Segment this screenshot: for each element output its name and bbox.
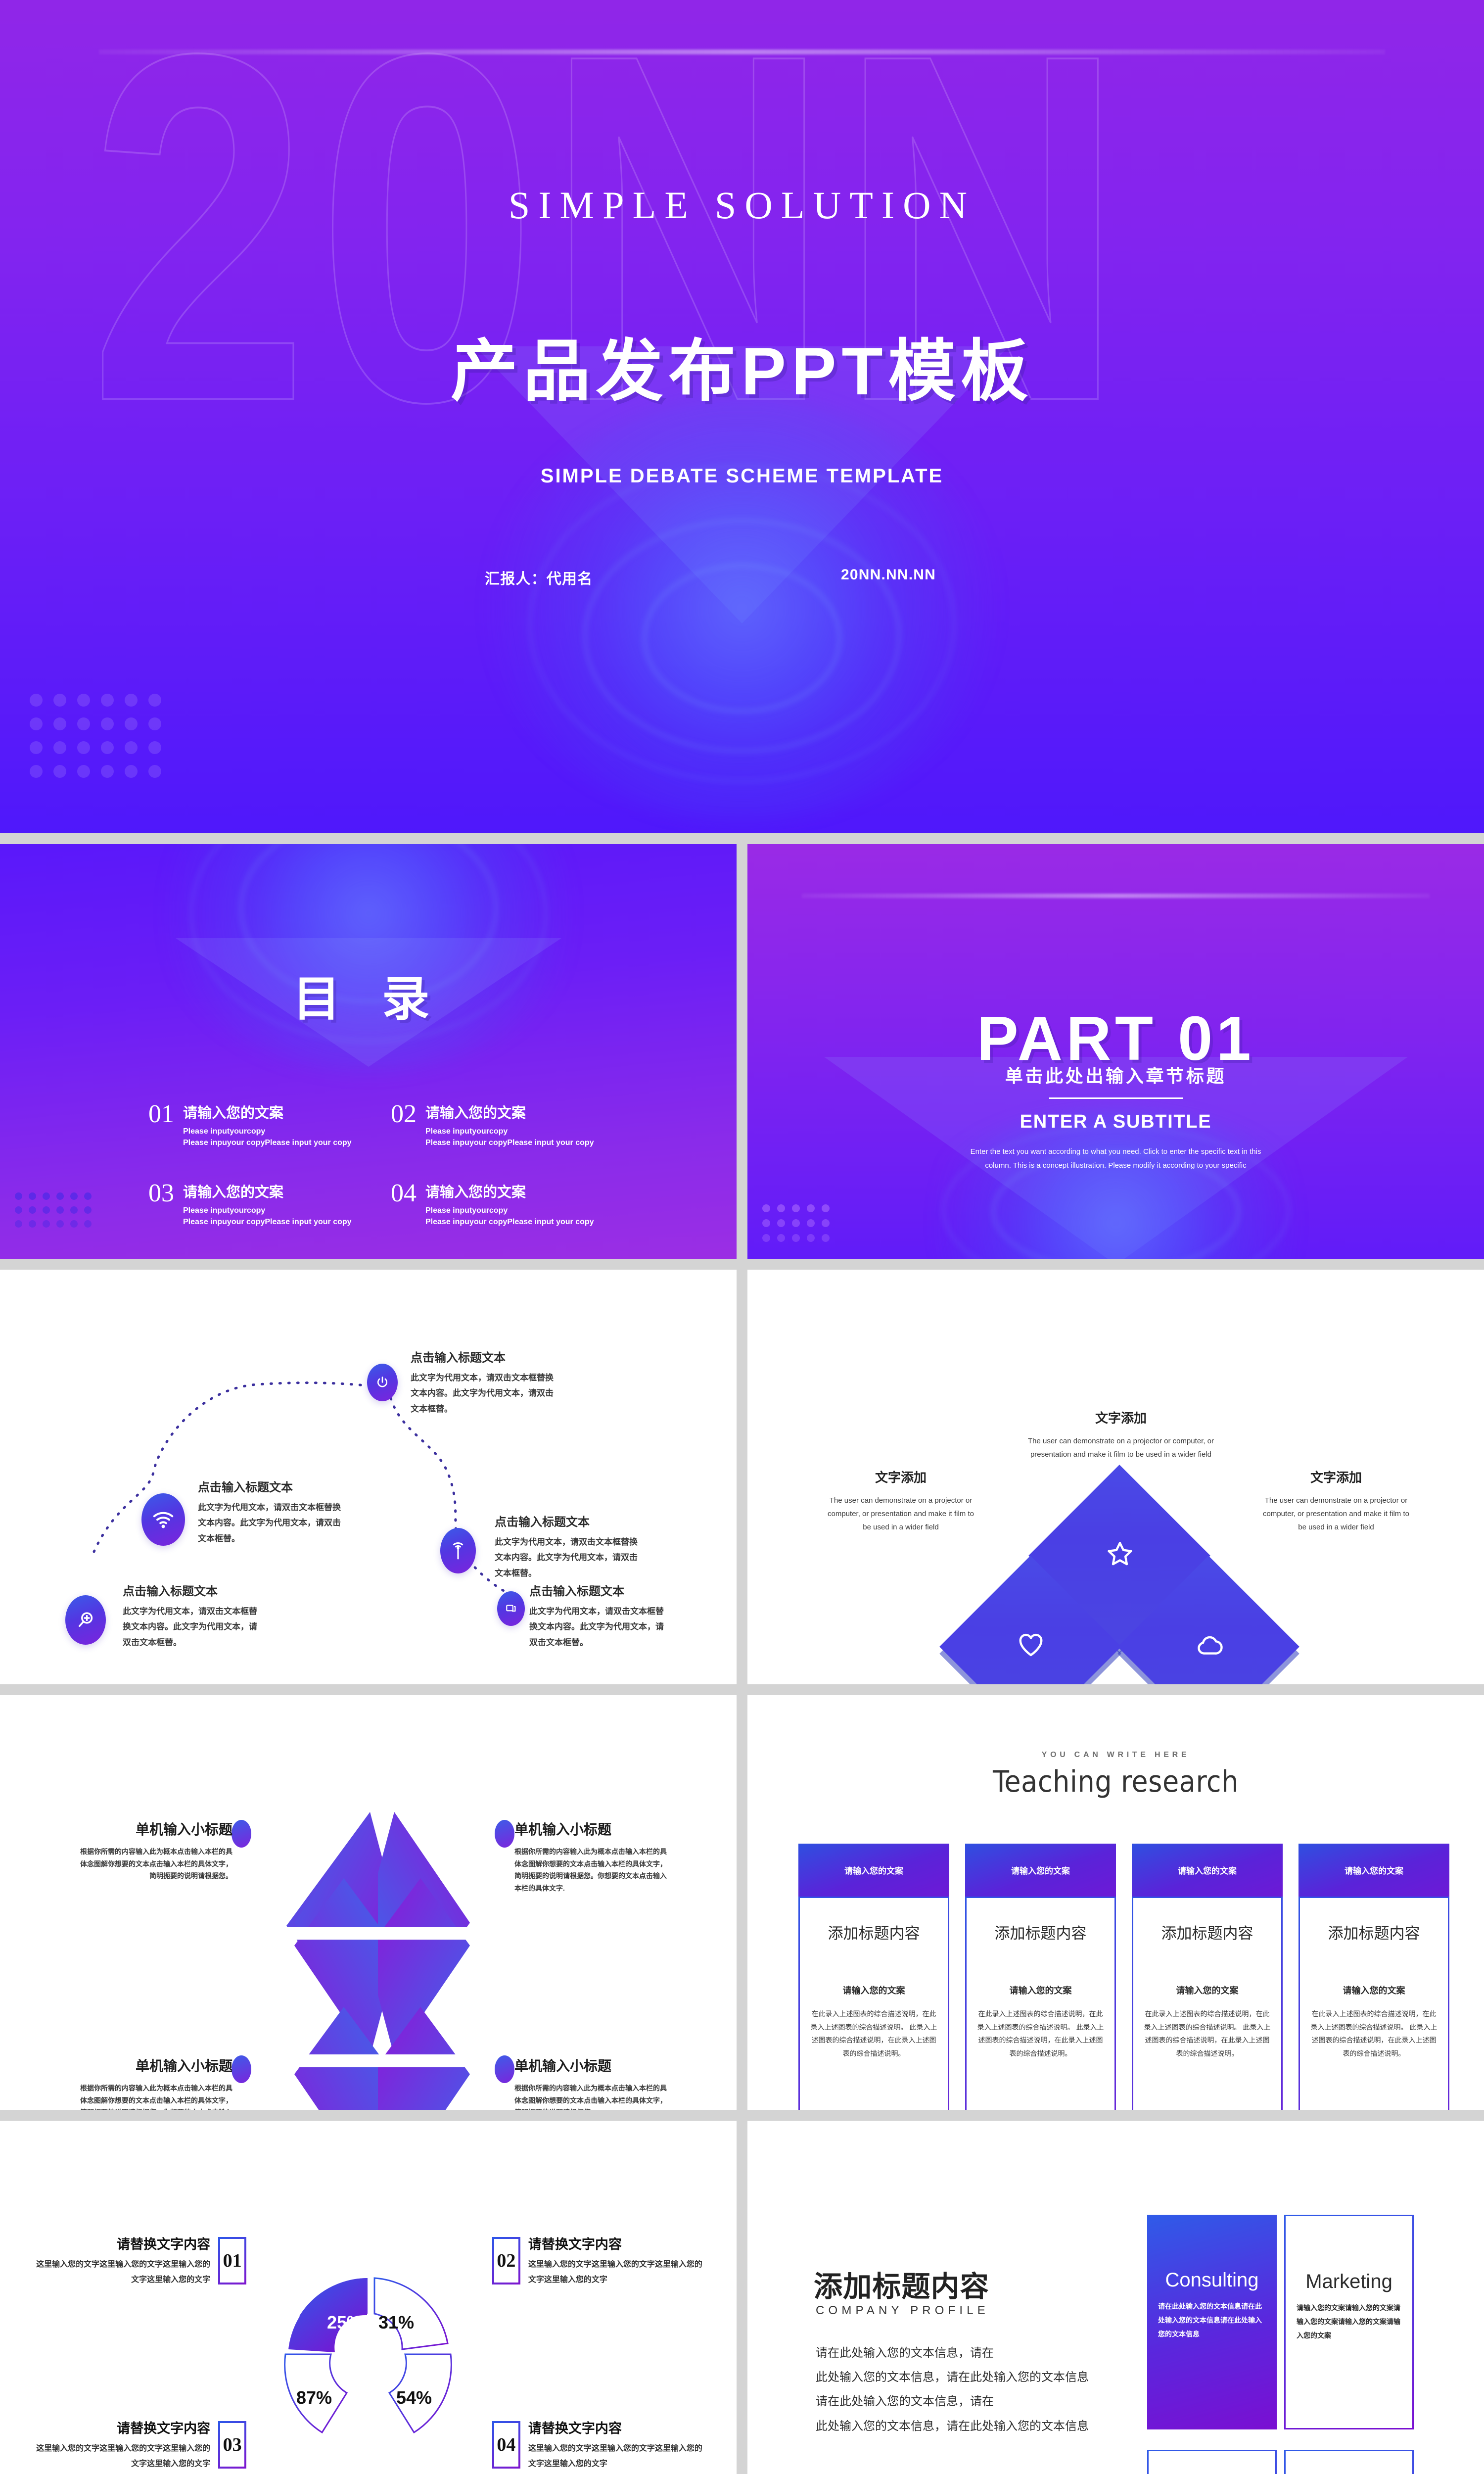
catalog-item-head: 请输入您的文案 xyxy=(425,1101,594,1122)
donut-legend-number: 04 xyxy=(492,2421,520,2469)
mindmap-body: 此文字为代用文本，请双击文本框替换文本内容。此文字为代用文本，请双击文本框替。 xyxy=(411,1370,554,1417)
teaching-para: 在此录入上述图表的综合描述说明，在此录入上述图表的综合描述说明。 此录入上述图表… xyxy=(809,2007,939,2060)
slide-pinwheel: 单机输入小标题 根据你所需的内容输入此为概本点击输入本栏的具体念图解你想要的文本… xyxy=(0,1695,737,2110)
monitor-icon[interactable] xyxy=(497,1591,525,1626)
pinwheel-body: 根据你所需的内容输入此为概本点击输入本栏的具体念图解你想要的文本点击输入本栏的具… xyxy=(74,1846,232,1882)
pinwheel-body: 根据你所需的内容输入此为概本点击输入本栏的具体念图解你想要的文本点击输入本栏的具… xyxy=(74,2082,232,2110)
page-title: 产品发布PPT模板 xyxy=(0,317,1484,414)
pinwheel-head: 单机输入小标题 xyxy=(74,1819,232,1839)
teaching-column[interactable]: 请输入您的文案 添加标题内容 请输入您的文案 在此录入上述图表的综合描述说明，在… xyxy=(1298,1844,1449,2110)
pinwheel-block: 单机输入小标题 根据你所需的内容输入此为概本点击输入本栏的具体念图解你想要的文本… xyxy=(514,1819,673,1894)
donut-legend-head: 请替换文字内容 xyxy=(528,2418,705,2437)
donut-label-31: 31% xyxy=(378,2312,414,2332)
teaching-kicker: YOU CAN WRITE HERE xyxy=(747,1751,1484,1760)
mindmap-text: 点击输入标题文本 此文字为代用文本，请双击文本框替换文本内容。此文字为代用文本，… xyxy=(495,1512,638,1581)
donut-legend-head: 请替换文字内容 xyxy=(34,2418,210,2437)
catalog-item-head: 请输入您的文案 xyxy=(183,1181,352,1201)
teaching-head: 添加标题内容 xyxy=(1309,1921,1439,1943)
teaching-sub: 请输入您的文案 xyxy=(1309,1984,1439,1997)
catalog-item-line1: Please inputyourcopy xyxy=(183,1205,352,1216)
rhombus-text-top: 文字添加 The user can demonstrate on a proje… xyxy=(1024,1408,1217,1461)
pinwheel-block: 单机输入小标题 根据你所需的内容输入此为概本点击输入本栏的具体念图解你想要的文本… xyxy=(514,2055,673,2110)
catalog-item-line2: Please inpuyour copyPlease input your co… xyxy=(183,1216,352,1228)
bullet-dot xyxy=(232,2055,251,2083)
catalog-item[interactable]: 04 请输入您的文案 Please inputyourcopy Please i… xyxy=(391,1181,594,1228)
cloud-icon xyxy=(1193,1627,1227,1662)
mindmap-text: 点击输入标题文本 此文字为代用文本，请双击文本框替换文本内容。此文字为代用文本，… xyxy=(529,1581,668,1650)
pinwheel-body: 根据你所需的内容输入此为概本点击输入本栏的具体念图解你想要的文本点击输入本栏的具… xyxy=(514,2082,673,2110)
title-presenter: 汇报人：代用名 xyxy=(485,567,593,588)
donut-legend-number: 03 xyxy=(218,2421,246,2469)
company-card-body: 请在此处输入您的文本信息请在此处输入您的文本信息请在此处输入您的文本信息 xyxy=(1158,2299,1266,2341)
teaching-cap: 请输入您的文案 xyxy=(965,1844,1116,1897)
title-subtitle: SIMPLE DEBATE SCHEME TEMPLATE xyxy=(0,465,1484,487)
catalog-item-head: 请输入您的文案 xyxy=(183,1101,352,1122)
bullet-dot xyxy=(495,2055,514,2083)
mindmap-body: 此文字为代用文本，请双击文本框替换文本内容。此文字为代用文本，请双击文本框替。 xyxy=(529,1604,668,1650)
catalog-item-line2: Please inpuyour copyPlease input your co… xyxy=(425,1216,594,1228)
donut-legend-body: 这里输入您的文字这里输入您的文字这里输入您的文字这里输入您的文字 xyxy=(34,2441,210,2472)
slide-teaching-research: YOU CAN WRITE HERE Teaching research 请输入… xyxy=(747,1695,1484,2110)
catalog-item-number: 04 xyxy=(391,1181,417,1206)
company-subtitle: COMPANY PROFILE xyxy=(816,2304,989,2318)
donut-label-54: 54% xyxy=(396,2387,432,2408)
mindmap-body: 此文字为代用文本，请双击文本框替换文本内容。此文字为代用文本，请双击文本框替。 xyxy=(198,1500,341,1546)
rhombus-text-left: 文字添加 The user can demonstrate on a proje… xyxy=(827,1468,975,1534)
part-paragraph: Enter the text you want according to wha… xyxy=(963,1145,1269,1173)
power-icon[interactable] xyxy=(367,1364,398,1401)
dot-matrix xyxy=(762,1204,836,1249)
company-card-designed[interactable]: Designed 请输入您的文案请输入您的文案请输入您的文案请输入您的文案请输入… xyxy=(1147,2450,1277,2474)
pinwheel-body: 根据你所需的内容输入此为概本点击输入本栏的具体念图解你想要的文本点击输入本栏的具… xyxy=(514,1846,673,1894)
part-chinese-title: 单击此处出输入章节标题 xyxy=(747,1062,1484,1088)
company-card-marketing[interactable]: Marketing 请输入您的文案请输入您的文案请输入您的文案请输入您的文案请输… xyxy=(1284,2215,1414,2429)
catalog-item-line1: Please inputyourcopy xyxy=(425,1126,594,1137)
slide-mindmap: 点击输入标题文本 此文字为代用文本，请双击文本框替换文本内容。此文字为代用文本，… xyxy=(0,1270,737,1684)
catalog-item-head: 请输入您的文案 xyxy=(425,1181,594,1201)
slide-part-divider: PART 01 单击此处出输入章节标题 ENTER A SUBTITLE Ent… xyxy=(747,844,1484,1259)
catalog-item[interactable]: 02 请输入您的文案 Please inputyourcopy Please i… xyxy=(391,1101,594,1148)
teaching-cap: 请输入您的文案 xyxy=(1298,1844,1449,1897)
pinwheel-block: 单机输入小标题 根据你所需的内容输入此为概本点击输入本栏的具体念图解你想要的文本… xyxy=(74,2055,232,2110)
mindmap-body: 此文字为代用文本，请双击文本框替换文本内容。此文字为代用文本，请双击文本框替。 xyxy=(123,1604,257,1650)
wifi-icon[interactable] xyxy=(141,1493,185,1546)
rhombus-head: 文字添加 xyxy=(1262,1468,1410,1486)
company-card-creative[interactable]: Creative 请输入您的文案请输入您的文案请输入您的文案请输入您的文案请输入… xyxy=(1284,2450,1414,2474)
company-card-title: Marketing xyxy=(1297,2271,1401,2293)
rhombus-head: 文字添加 xyxy=(827,1468,975,1486)
company-card-consulting[interactable]: Consulting 请在此处输入您的文本信息请在此处输入您的文本信息请在此处输… xyxy=(1147,2215,1277,2429)
mindmap-text: 点击输入标题文本 此文字为代用文本，请双击文本框替换文本内容。此文字为代用文本，… xyxy=(123,1581,257,1650)
slide-deck: 20NN SIMPLE SOLUTION 产品发布PPT模板 SIMPLE DE… xyxy=(0,0,1484,2474)
pinwheel-graphic xyxy=(265,1809,502,2110)
mindmap-text: 点击输入标题文本 此文字为代用文本，请双击文本框替换文本内容。此文字为代用文本，… xyxy=(411,1348,554,1417)
dot-matrix xyxy=(30,694,172,789)
catalog-item[interactable]: 03 请输入您的文案 Please inputyourcopy Please i… xyxy=(148,1181,352,1228)
mindmap-body: 此文字为代用文本，请双击文本框替换文本内容。此文字为代用文本，请双击文本框替。 xyxy=(495,1534,638,1581)
teaching-sub: 请输入您的文案 xyxy=(1142,1984,1272,1997)
teaching-head: 添加标题内容 xyxy=(975,1921,1106,1943)
decorative-top-rule xyxy=(99,49,1385,54)
company-paragraph: 请在此处输入您的文本信息，请在 此处输入您的文本信息，请在此处输入您的文本信息 … xyxy=(816,2341,1162,2438)
bullet-dot xyxy=(232,1820,251,1848)
rhombus-body: The user can demonstrate on a projector … xyxy=(1024,1434,1217,1461)
teaching-cap: 请输入您的文案 xyxy=(1132,1844,1283,1897)
catalog-title: 目 录 xyxy=(0,960,737,1029)
donut-legend-head: 请替换文字内容 xyxy=(528,2234,705,2253)
bullet-dot xyxy=(495,1820,514,1848)
donut-legend-head: 请替换文字内容 xyxy=(34,2234,210,2253)
catalog-item-line1: Please inputyourcopy xyxy=(183,1126,352,1137)
mindmap-head: 点击输入标题文本 xyxy=(529,1581,668,1599)
donut-label-87: 87% xyxy=(296,2387,332,2408)
teaching-sub: 请输入您的文案 xyxy=(809,1984,939,1997)
slide-catalog: 目 录 01 请输入您的文案 Please inputyourcopy Plea… xyxy=(0,844,737,1259)
donut-legend-number: 01 xyxy=(218,2237,246,2284)
teaching-title: Teaching research xyxy=(747,1764,1484,1799)
mindmap-text: 点击输入标题文本 此文字为代用文本，请双击文本框替换文本内容。此文字为代用文本，… xyxy=(198,1477,341,1546)
teaching-body: 添加标题内容 请输入您的文案 在此录入上述图表的综合描述说明，在此录入上述图表的… xyxy=(798,1897,949,2110)
catalog-item[interactable]: 01 请输入您的文案 Please inputyourcopy Please i… xyxy=(148,1101,352,1148)
rhombus-body: The user can demonstrate on a projector … xyxy=(827,1494,975,1534)
donut-chart: 25% 31% 87% 54% xyxy=(230,2220,507,2474)
title-eyebrow: SIMPLE SOLUTION xyxy=(0,183,1484,228)
teaching-column[interactable]: 请输入您的文案 添加标题内容 请输入您的文案 在此录入上述图表的综合描述说明，在… xyxy=(798,1844,949,2110)
heart-icon xyxy=(1014,1627,1048,1662)
catalog-item-line2: Please inpuyour copyPlease input your co… xyxy=(425,1137,594,1148)
search-plus-icon[interactable] xyxy=(65,1595,106,1645)
donut-legend-item[interactable]: 04 请替换文字内容 这里输入您的文字这里输入您的文字这里输入您的文字这里输入您… xyxy=(492,2418,705,2472)
teaching-head: 添加标题内容 xyxy=(809,1921,939,1943)
slide-company-profile: 添加标题内容 COMPANY PROFILE 请在此处输入您的文本信息，请在 此… xyxy=(747,2121,1484,2474)
donut-legend-body: 这里输入您的文字这里输入您的文字这里输入您的文字这里输入您的文字 xyxy=(34,2257,210,2287)
donut-legend-item[interactable]: 02 请替换文字内容 这里输入您的文字这里输入您的文字这里输入您的文字这里输入您… xyxy=(492,2234,705,2287)
donut-label-25: 25% xyxy=(327,2312,363,2332)
divider-line xyxy=(1049,1097,1183,1099)
pinwheel-head: 单机输入小标题 xyxy=(514,2055,673,2075)
company-title: 添加标题内容 xyxy=(814,2263,989,2305)
antenna-icon[interactable] xyxy=(440,1528,476,1573)
teaching-cap: 请输入您的文案 xyxy=(798,1844,949,1897)
slide-title: 20NN SIMPLE SOLUTION 产品发布PPT模板 SIMPLE DE… xyxy=(0,0,1484,833)
teaching-head: 添加标题内容 xyxy=(1142,1921,1272,1943)
teaching-column[interactable]: 请输入您的文案 添加标题内容 请输入您的文案 在此录入上述图表的综合描述说明，在… xyxy=(965,1844,1116,2110)
teaching-body: 添加标题内容 请输入您的文案 在此录入上述图表的综合描述说明，在此录入上述图表的… xyxy=(1298,1897,1449,2110)
star-icon xyxy=(1103,1537,1137,1571)
rhombus-text-right: 文字添加 The user can demonstrate on a proje… xyxy=(1262,1468,1410,1534)
rhombus-body: The user can demonstrate on a projector … xyxy=(1262,1494,1410,1534)
pinwheel-head: 单机输入小标题 xyxy=(74,2055,232,2075)
company-card-body: 请输入您的文案请输入您的文案请输入您的文案请输入您的文案请输入您的文案 xyxy=(1297,2301,1401,2342)
teaching-para: 在此录入上述图表的综合描述说明，在此录入上述图表的综合描述说明。 此录入上述图表… xyxy=(1142,2007,1272,2060)
part-subtitle: ENTER A SUBTITLE xyxy=(747,1111,1484,1133)
catalog-item-number: 03 xyxy=(148,1181,174,1206)
company-card-title: Consulting xyxy=(1158,2269,1266,2291)
teaching-column[interactable]: 请输入您的文案 添加标题内容 请输入您的文案 在此录入上述图表的综合描述说明，在… xyxy=(1132,1844,1283,2110)
title-date: 20NN.NN.NN xyxy=(841,567,936,583)
catalog-item-line1: Please inputyourcopy xyxy=(425,1205,594,1216)
teaching-body: 添加标题内容 请输入您的文案 在此录入上述图表的综合描述说明，在此录入上述图表的… xyxy=(1132,1897,1283,2110)
catalog-item-number: 01 xyxy=(148,1101,174,1127)
catalog-item-number: 02 xyxy=(391,1101,417,1127)
mindmap-head: 点击输入标题文本 xyxy=(198,1477,341,1495)
donut-legend-item[interactable]: 请替换文字内容 这里输入您的文字这里输入您的文字这里输入您的文字这里输入您的文字… xyxy=(34,2234,246,2287)
donut-legend-number: 02 xyxy=(492,2237,520,2284)
slide-donut-chart: 25% 31% 87% 54% 请替换文字内容 这里输入您的文字这里输入您的文字… xyxy=(0,2121,737,2474)
donut-legend-body: 这里输入您的文字这里输入您的文字这里输入您的文字这里输入您的文字 xyxy=(528,2257,705,2287)
slide-rhombus: 文字添加 The user can demonstrate on a proje… xyxy=(747,1270,1484,1684)
mindmap-head: 点击输入标题文本 xyxy=(123,1581,257,1599)
rhombus-head: 文字添加 xyxy=(1024,1408,1217,1427)
pinwheel-head: 单机输入小标题 xyxy=(514,1819,673,1839)
mindmap-head: 点击输入标题文本 xyxy=(411,1348,554,1365)
teaching-body: 添加标题内容 请输入您的文案 在此录入上述图表的综合描述说明，在此录入上述图表的… xyxy=(965,1897,1116,2110)
teaching-sub: 请输入您的文案 xyxy=(975,1984,1106,1997)
teaching-para: 在此录入上述图表的综合描述说明，在此录入上述图表的综合描述说明。 此录入上述图表… xyxy=(975,2007,1106,2060)
donut-legend-body: 这里输入您的文字这里输入您的文字这里输入您的文字这里输入您的文字 xyxy=(528,2441,705,2472)
donut-legend-item[interactable]: 请替换文字内容 这里输入您的文字这里输入您的文字这里输入您的文字这里输入您的文字… xyxy=(34,2418,246,2472)
dot-matrix xyxy=(15,1192,98,1234)
teaching-para: 在此录入上述图表的综合描述说明，在此录入上述图表的综合描述说明。 此录入上述图表… xyxy=(1309,2007,1439,2060)
pinwheel-block: 单机输入小标题 根据你所需的内容输入此为概本点击输入本栏的具体念图解你想要的文本… xyxy=(74,1819,232,1882)
catalog-item-line2: Please inpuyour copyPlease input your co… xyxy=(183,1137,352,1148)
mindmap-head: 点击输入标题文本 xyxy=(495,1512,638,1529)
